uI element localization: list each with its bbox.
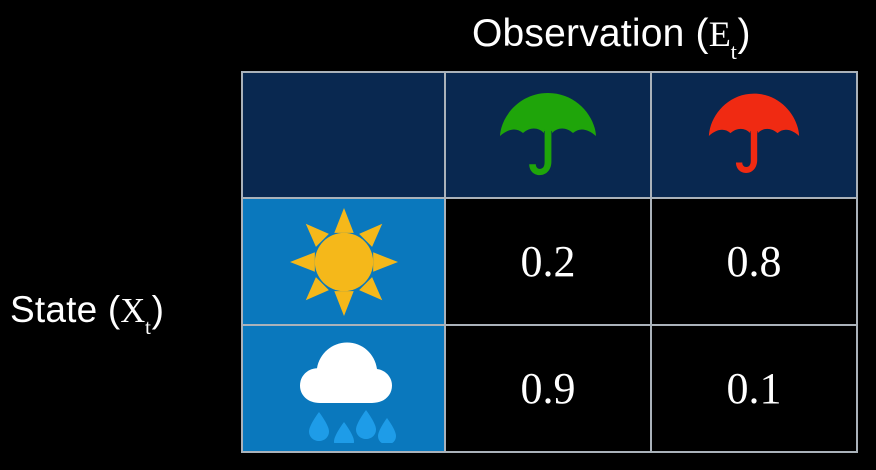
column-header-red-umbrella: [651, 72, 857, 198]
observation-axis-title: Observation (Et): [472, 10, 751, 72]
state-axis-title: State (Xt): [10, 287, 164, 346]
cell-rainy-red-umbrella: 0.1: [651, 325, 857, 452]
umbrella-green-icon: [446, 73, 650, 197]
matrix-corner-cell: [242, 72, 445, 198]
sun-icon: [243, 199, 444, 324]
state-variable-subscript: t: [145, 315, 151, 339]
slide-canvas: Observation (Et) State (Xt): [0, 0, 876, 470]
state-axis-label-text: State (: [10, 289, 120, 330]
cell-sunny-green-umbrella: 0.2: [445, 198, 651, 325]
row-header-rainy: [242, 325, 445, 452]
table-row-sunny: 0.2 0.8: [242, 198, 857, 325]
observation-axis-label-close: ): [738, 12, 751, 55]
umbrella-red-icon: [652, 73, 856, 197]
state-variable-symbol: X: [120, 292, 145, 330]
observation-axis-label-text: Observation (: [472, 12, 709, 55]
table-row-rainy: 0.9 0.1: [242, 325, 857, 452]
sensor-model-matrix: 0.2 0.8: [241, 71, 858, 453]
state-axis-label-close: ): [152, 289, 165, 330]
table-header-row: [242, 72, 857, 198]
observation-variable-symbol: E: [709, 14, 731, 54]
observation-variable-subscript: t: [731, 39, 737, 64]
rain-cloud-icon: [243, 326, 444, 451]
cell-sunny-red-umbrella: 0.8: [651, 198, 857, 325]
column-header-green-umbrella: [445, 72, 651, 198]
cell-rainy-green-umbrella: 0.9: [445, 325, 651, 452]
row-header-sunny: [242, 198, 445, 325]
